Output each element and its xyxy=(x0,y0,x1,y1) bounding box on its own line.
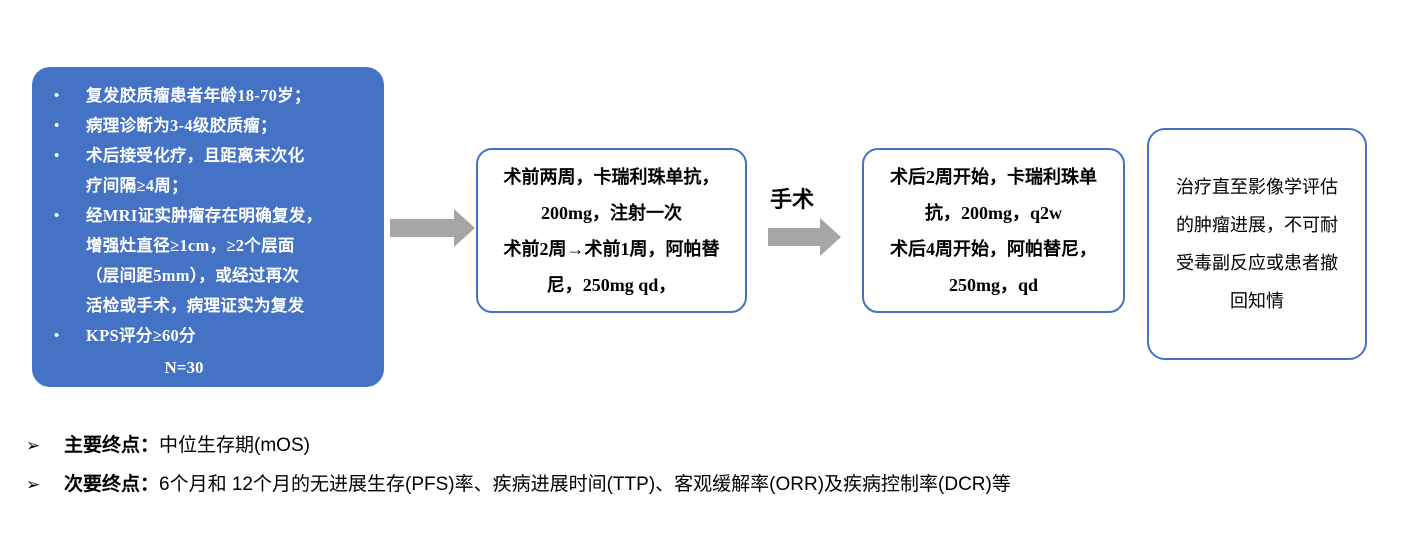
list-item-label: 活检或手术，病理证实为复发 xyxy=(86,296,304,315)
list-item-label: 复发胶质瘤患者年龄18-70岁； xyxy=(86,86,311,105)
post-surgery-treatment-box: 术后2周开始，卡瑞利珠单 抗，200mg，q2w 术后4周开始，阿帕替尼， 25… xyxy=(862,148,1125,313)
bullet-icon: • xyxy=(54,111,60,141)
eligibility-criteria-list: • 复发胶质瘤患者年龄18-70岁； • 病理诊断为3-4级胶质瘤； • 术后接… xyxy=(42,81,374,351)
surgery-step-label: 手术 xyxy=(770,182,814,214)
followup-line: 治疗直至影像学评估 xyxy=(1176,168,1338,206)
list-item-label: 疗间隔≥4周； xyxy=(86,176,188,195)
sample-size-label: N=30 xyxy=(42,353,374,383)
arrow-right-icon xyxy=(390,219,454,237)
list-item-label: 经MRI证实肿瘤存在明确复发， xyxy=(86,206,322,225)
list-item-continuation: 增强灶直径≥1cm，≥2个层面 xyxy=(42,231,374,261)
endpoints-section: ➢ 主要终点： 中位生存期(mOS) ➢ 次要终点： 6个月和 12个月的无进展… xyxy=(26,432,1326,510)
primary-endpoint-text: 中位生存期(mOS) xyxy=(159,432,310,460)
followup-line: 的肿瘤进展，不可耐 xyxy=(1176,206,1338,244)
list-item-continuation: 疗间隔≥4周； xyxy=(42,171,374,201)
bullet-icon: • xyxy=(54,81,60,111)
followup-line: 回知情 xyxy=(1230,282,1284,320)
list-item: • 病理诊断为3-4级胶质瘤； xyxy=(42,111,374,141)
primary-endpoint-label: 主要终点： xyxy=(64,432,159,460)
pre-surgery-treatment-box: 术前两周，卡瑞利珠单抗， 200mg，注射一次 术前2周→术前1周，阿帕替 尼，… xyxy=(476,148,747,313)
eligibility-criteria-box: • 复发胶质瘤患者年龄18-70岁； • 病理诊断为3-4级胶质瘤； • 术后接… xyxy=(32,67,384,387)
arrow-right-icon xyxy=(768,228,820,246)
treatment-discontinuation-box: 治疗直至影像学评估 的肿瘤进展，不可耐 受毒副反应或患者撤 回知情 xyxy=(1147,128,1367,360)
list-item-label: 病理诊断为3-4级胶质瘤； xyxy=(86,116,277,135)
secondary-endpoint-label: 次要终点： xyxy=(64,471,159,499)
bullet-icon: • xyxy=(54,321,60,351)
list-item: • 经MRI证实肿瘤存在明确复发， xyxy=(42,201,374,231)
secondary-endpoint-row: ➢ 次要终点： 6个月和 12个月的无进展生存(PFS)率、疾病进展时间(TTP… xyxy=(26,471,1326,499)
treatment-line: 尼，250mg qd， xyxy=(547,267,677,303)
treatment-line: 250mg，qd xyxy=(949,267,1038,303)
arrow-bullet-icon: ➢ xyxy=(26,432,64,460)
followup-line: 受毒副反应或患者撤 xyxy=(1176,244,1338,282)
secondary-endpoint-text: 6个月和 12个月的无进展生存(PFS)率、疾病进展时间(TTP)、客观缓解率(… xyxy=(159,471,1011,499)
arrow-bullet-icon: ➢ xyxy=(26,471,64,499)
list-item-continuation: 活检或手术，病理证实为复发 xyxy=(42,291,374,321)
treatment-line: 术后2周开始，卡瑞利珠单 xyxy=(890,159,1097,195)
list-item: • 复发胶质瘤患者年龄18-70岁； xyxy=(42,81,374,111)
list-item: • 术后接受化疗，且距离末次化 xyxy=(42,141,374,171)
treatment-line: 术后4周开始，阿帕替尼， xyxy=(890,231,1097,267)
bullet-icon: • xyxy=(54,201,60,231)
treatment-line: 术前2周→术前1周，阿帕替 xyxy=(504,231,720,267)
list-item-continuation: （层间距5mm），或经过再次 xyxy=(42,261,374,291)
treatment-line: 200mg，注射一次 xyxy=(541,195,682,231)
list-item-label: （层间距5mm），或经过再次 xyxy=(86,266,299,285)
list-item-label: 增强灶直径≥1cm，≥2个层面 xyxy=(86,236,295,255)
primary-endpoint-row: ➢ 主要终点： 中位生存期(mOS) xyxy=(26,432,1326,460)
list-item-label: 术后接受化疗，且距离末次化 xyxy=(86,146,304,165)
treatment-line: 抗，200mg，q2w xyxy=(925,195,1062,231)
list-item: • KPS评分≥60分 xyxy=(42,321,374,351)
treatment-line: 术前两周，卡瑞利珠单抗， xyxy=(504,159,720,195)
list-item-label: KPS评分≥60分 xyxy=(86,326,196,345)
bullet-icon: • xyxy=(54,141,60,171)
